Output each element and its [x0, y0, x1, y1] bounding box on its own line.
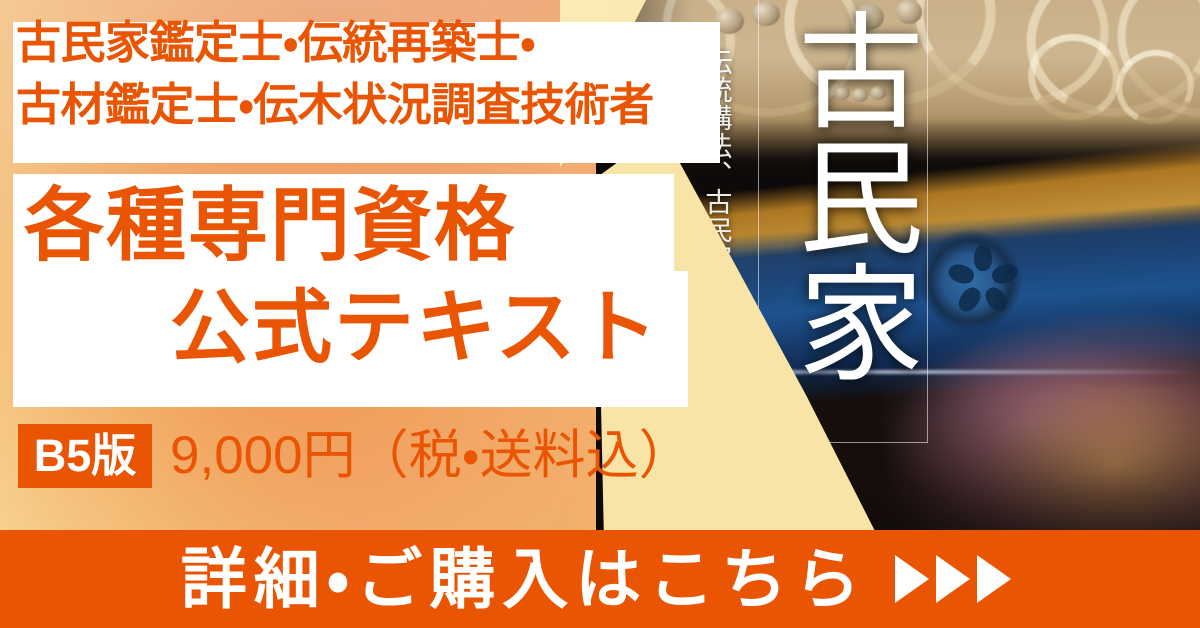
format-badge: B5版 — [18, 424, 152, 488]
play-arrow-icon — [895, 555, 929, 603]
cover-title: 古民家 — [764, 6, 922, 384]
headline-line-1: 各種専門資格 — [24, 186, 516, 266]
cta-inner: 詳細・ご購入はこちら — [181, 546, 1011, 612]
cta-arrows — [895, 555, 1011, 603]
cta-label: 詳細・ご購入はこちら — [181, 546, 867, 612]
qualifications-text: 古民家鑑定士・伝統再築士・ 古材鑑定士・伝木状況調査技術者 — [16, 12, 654, 136]
headline-line-2: 公式テキスト — [170, 288, 660, 368]
cta-bar[interactable]: 詳細・ご購入はこちら — [0, 530, 1200, 628]
play-arrow-icon — [977, 555, 1011, 603]
play-arrow-icon — [936, 555, 970, 603]
promo-banner: 古民家 伝統構法、古民家活用のための調査と再生の 古民家鑑定士・伝統再築士・ 古… — [0, 0, 1200, 628]
price-text: 9,000円（税・送料込） — [170, 424, 692, 488]
